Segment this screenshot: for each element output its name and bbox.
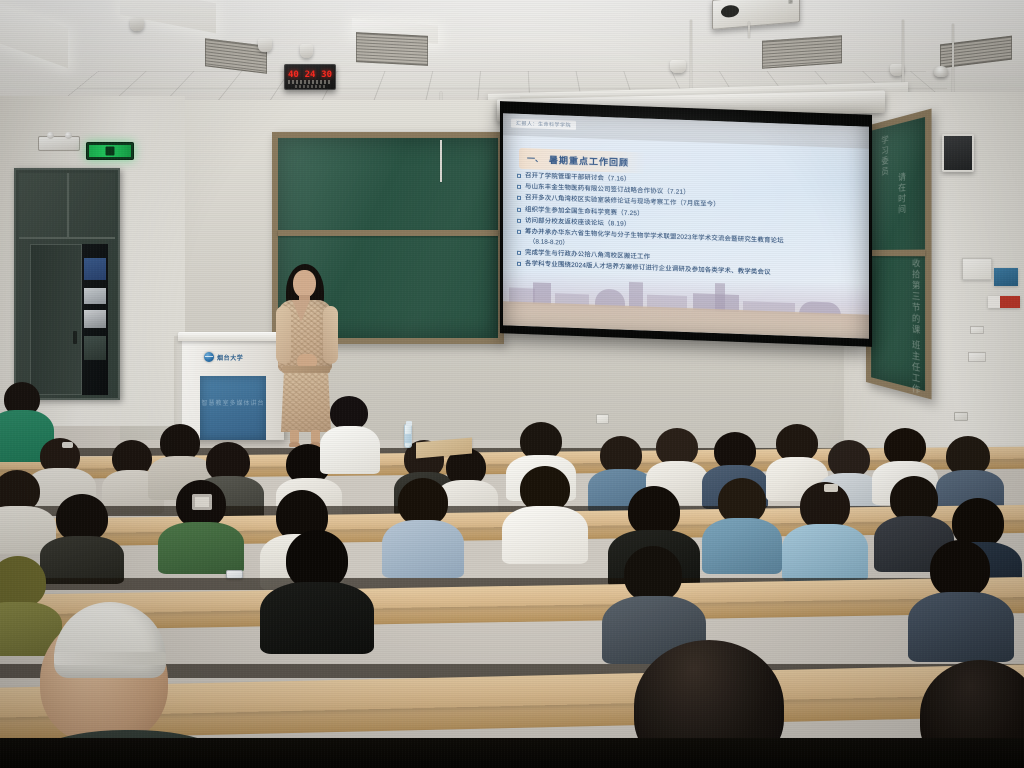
lecture-hall-photo: ▦ 40 24 30 (0, 0, 1024, 768)
person-head (930, 540, 990, 598)
emergency-light (38, 136, 80, 151)
person-torso (320, 426, 380, 474)
door-transom-panel (19, 173, 115, 239)
presenter-belt (282, 366, 330, 373)
hair-clip-icon (192, 494, 212, 510)
ceiling-vent (356, 32, 428, 66)
podium-body: 烟台大学 智慧教室多媒体讲台 (182, 340, 284, 440)
ceiling-speaker (258, 38, 272, 52)
security-camera-icon (934, 66, 948, 77)
person-torso (40, 536, 124, 584)
slide-title-banner: 一、 暑期重点工作回顾 (519, 148, 645, 174)
presentation-slide: 汇报人：生命科学学院 一、 暑期重点工作回顾 召开了学院管理干部研讨会（7.16… (503, 113, 869, 338)
chalkboard-pointer-rod (440, 140, 442, 182)
bullet-square-icon (517, 230, 521, 234)
led-wall-clock: 40 24 30 (284, 64, 336, 90)
clock-digit-3: 30 (321, 70, 332, 80)
person-head (398, 478, 448, 526)
bullet-square-icon (517, 251, 521, 255)
university-emblem-icon (204, 352, 214, 362)
ceiling-vent (762, 35, 842, 69)
person-head (56, 494, 108, 542)
person-torso (158, 522, 244, 574)
slide-title-number: 一、 (527, 153, 543, 165)
emergency-lamp-icon (47, 132, 54, 139)
gap-object (84, 258, 106, 280)
clock-label-strip (288, 80, 332, 84)
board-divider (278, 230, 498, 236)
podium-panel-text: 智慧教室多媒体讲台 (200, 398, 266, 407)
bullet-text: 组织学生参加全国生命科学竞赛（7.25） (525, 206, 644, 218)
person-torso (260, 582, 374, 654)
person-torso (502, 506, 588, 564)
water-bottle (404, 424, 412, 448)
cap-strap-icon (54, 652, 166, 665)
projector-mount-rod (748, 22, 750, 38)
chalk-text-line: 请在时间 (897, 171, 908, 215)
slide-title-text: 暑期重点工作回顾 (549, 153, 629, 169)
bullet-square-icon (517, 219, 521, 223)
board-divider (871, 250, 925, 257)
campus-building (715, 283, 725, 311)
gap-object (84, 336, 106, 360)
bullet-text: 召开了学院管理干部研讨会（7.16） (525, 172, 631, 184)
person-torso (382, 520, 464, 578)
bottle-label (405, 434, 411, 443)
presenter-face (293, 270, 316, 298)
person-head (286, 530, 348, 590)
emergency-lamp-icon (65, 132, 72, 139)
person-head (330, 396, 368, 430)
wall-plate (970, 326, 984, 334)
bullet-text: 访问部分校友返校座谈论坛（8.19） (525, 217, 631, 229)
bullet-square-icon (517, 207, 521, 211)
exit-sign (86, 142, 134, 160)
person-torso (908, 592, 1014, 662)
podium-logo-text: 烟台大学 (217, 353, 243, 362)
bullet-square-icon (517, 196, 521, 200)
running-man-icon (106, 147, 115, 156)
projector-lens (721, 4, 739, 18)
presenter-arm-right (323, 306, 338, 364)
ceiling-speaker (670, 60, 686, 73)
person-torso (702, 518, 782, 574)
podium-control-panel[interactable]: 智慧教室多媒体讲台 (200, 376, 266, 440)
hair-clip-icon (824, 484, 838, 492)
presenter-arm-left (276, 306, 291, 364)
clock-digit-1: 40 (288, 70, 299, 80)
wall-mounted-monitor[interactable] (942, 134, 974, 172)
bullet-square-icon (517, 185, 521, 189)
clock-digit-2: 24 (305, 70, 316, 80)
campus-building (629, 282, 643, 309)
hanging-cable (902, 20, 904, 86)
bullet-square-icon (517, 174, 521, 178)
wall-outlet[interactable] (954, 412, 968, 421)
person-head (628, 486, 680, 536)
wall-poster-red (988, 296, 1020, 308)
ceiling-speaker (130, 18, 144, 31)
hair-clip-icon (62, 442, 73, 448)
chalk-text-line: 收拾第三节的课 班主任工作 (910, 258, 921, 397)
door-leaf[interactable] (30, 244, 82, 395)
presenter-skirt (281, 370, 331, 432)
classroom-door[interactable] (14, 168, 120, 400)
presenter-neckline (292, 300, 310, 322)
bottle-cap (406, 421, 412, 426)
door-handle-icon[interactable] (73, 331, 77, 344)
blackboard-right: 学习委员 请在时间 收拾第三节的课 班主任工作 (866, 109, 932, 400)
wall-poster-notice (962, 258, 992, 280)
clock-digits-row: 40 24 30 (288, 70, 332, 80)
wall-plate (968, 352, 986, 362)
projection-screen[interactable]: 汇报人：生命科学学院 一、 暑期重点工作回顾 召开了学院管理干部研讨会（7.16… (500, 101, 872, 347)
clock-label-strip-lower (295, 85, 325, 88)
gap-object (84, 310, 106, 328)
person-torso (782, 524, 868, 582)
ceiling-speaker (300, 44, 313, 58)
door-open-gap (82, 244, 108, 395)
wall-outlet[interactable] (596, 414, 609, 424)
slide-header-bar (503, 113, 869, 148)
person-head (624, 546, 682, 602)
gap-object (84, 288, 106, 304)
wall-poster-blue (994, 268, 1018, 286)
floor (0, 738, 1024, 768)
bullet-square-icon (517, 262, 521, 266)
chalk-text-line: 学习委员 (880, 134, 890, 178)
slide-bullet-list: 召开了学院管理干部研讨会（7.16） 与山东丰金生物医药有限公司签订战略合作协议… (517, 172, 861, 284)
podium-logo: 烟台大学 (204, 352, 243, 362)
